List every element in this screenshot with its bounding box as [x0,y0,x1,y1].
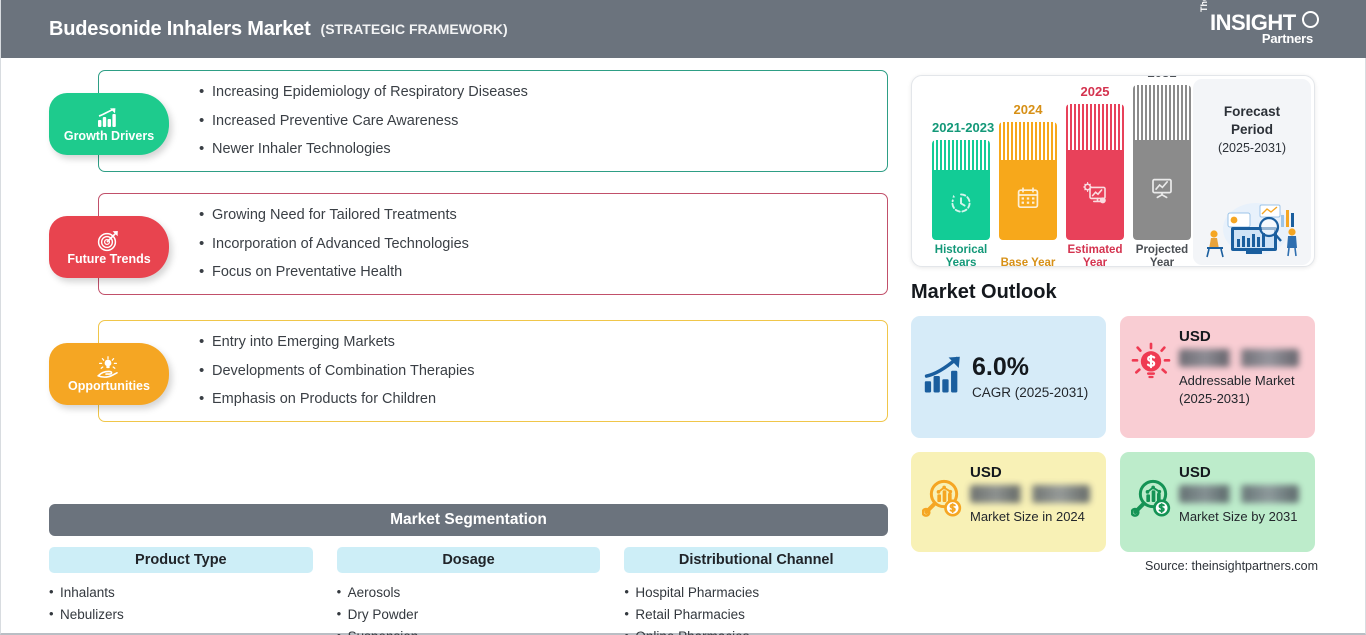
market-outlook-card[interactable]: 6.0%CAGR (2025-2031) [911,316,1106,438]
forecast-bar-solid [932,170,990,240]
segmentation-item: Aerosols [337,586,601,601]
factor-badge-label: Growth Drivers [64,129,154,143]
lightbulb-dollar-icon [1131,342,1171,387]
forecast-bar-caption: Base Year [999,257,1057,267]
page-header: Budesonide Inhalers Market (STRATEGIC FR… [1,0,1366,58]
card-body: USDAddressable Market (2025-2031) [1179,328,1304,408]
forecast-bar-group: 2024Base Year [999,122,1057,240]
forecast-bars: 2021-2023Historical Years2024Base Year20… [924,76,1188,267]
redacted-value [970,485,1090,503]
factor-panel: Increasing Epidemiology of Respiratory D… [98,70,888,172]
segmentation-column: Distributional ChannelHospital Pharmacie… [624,547,888,635]
logo-ring-icon [1302,11,1319,28]
forecast-bar-group: 2021-2023Historical Years [932,140,990,240]
card-body: USDMarket Size by 2031 [1179,464,1304,526]
segmentation-item: Online Pharmacies [624,630,888,635]
factor-badge-opportunities[interactable]: Opportunities [49,343,169,405]
forecast-bar-caption: Estimated Year [1066,244,1124,267]
card-currency: USD [970,464,1095,481]
forecast-period-panel: Forecast Period (2025-2031) [1193,79,1311,265]
calendar-icon [1016,186,1040,210]
factor-bullet-list: Entry into Emerging MarketsDevelopments … [99,321,887,421]
market-outlook-card[interactable]: USDMarket Size in 2024 [911,452,1106,552]
clock-history-icon [949,191,973,220]
factor-badge-label: Opportunities [68,379,150,393]
segmentation-column-title: Product Type [135,552,227,568]
forecast-bar-body [1133,85,1191,240]
forecast-bar-year: 2021-2023 [932,120,990,135]
factor-panel: Growing Need for Tailored TreatmentsInco… [98,193,888,295]
forecast-bar-year: 2025 [1066,84,1124,99]
growth-bar-chart-icon [922,354,964,396]
calendar-icon [1016,186,1040,215]
forecast-bar-solid [1133,140,1191,240]
lightbulb-hand-icon [96,356,122,378]
cagr-label: CAGR (2025-2031) [972,385,1095,400]
outlook-column: 2021-2023Historical Years2024Base Year20… [911,75,1321,573]
lightbulb-dollar-icon [1131,342,1171,382]
factor-bullet-item: Focus on Preventative Health [199,265,887,280]
card-label: Addressable Market (2025-2031) [1179,372,1304,408]
segmentation-column-header: Dosage [337,547,601,573]
forecast-bar-stripe [932,140,990,170]
presentation-chart-icon [1150,176,1174,205]
card-label: Market Size by 2031 [1179,508,1304,526]
magnifier-chart-dollar-icon [922,478,962,518]
segmentation-item-list: Hospital PharmaciesRetail PharmaciesOnli… [624,586,888,635]
forecast-bar-stripe [999,122,1057,160]
page-subtitle: (STRATEGIC FRAMEWORK) [321,21,508,37]
segmentation-column-header: Distributional Channel [624,547,888,573]
segmentation-columns: Product TypeInhalantsNebulizersDosageAer… [49,547,888,635]
infographic-page: Budesonide Inhalers Market (STRATEGIC FR… [0,0,1366,635]
factor-bullet-item: Newer Inhaler Technologies [199,142,887,157]
forecast-bar-year: 2024 [999,102,1057,117]
forecast-period-range: (2025-2031) [1193,141,1311,155]
forecast-period-line2: Period [1231,122,1273,137]
cagr-value: 6.0% [972,355,1095,380]
forecast-bar-group: 2025Estimated Year [1066,104,1124,240]
segmentation-column: Product TypeInhalantsNebulizers [49,547,313,635]
magnifier-chart-dollar-icon [922,478,962,523]
bar-chart-arrow-icon [96,106,120,130]
redacted-value [1179,349,1299,367]
segmentation-item: Suspension [337,630,601,635]
segmentation-item-list: InhalantsNebulizers [49,586,313,623]
factor-bullet-item: Increased Preventive Care Awareness [199,114,887,129]
forecast-bar-body [1066,104,1124,240]
analytics-gear-icon [1083,181,1107,210]
market-segmentation-header: Market Segmentation [49,504,888,536]
analytics-gear-icon [1083,181,1107,205]
segmentation-column-header: Product Type [49,547,313,573]
forecast-bar-group: 2031Projected Year [1133,85,1191,240]
forecast-bar-stripe [1066,104,1124,150]
page-title: Budesonide Inhalers Market [49,18,311,41]
segmentation-item: Hospital Pharmacies [624,586,888,601]
forecast-bar-year: 2031 [1133,75,1191,80]
factor-bullet-item: Incorporation of Advanced Technologies [199,237,887,252]
target-dart-icon [96,229,120,253]
forecast-bar-caption: Historical Years [932,244,990,267]
bar-chart-arrow-icon [96,106,122,128]
factor-bullet-item: Increasing Epidemiology of Respiratory D… [199,85,887,100]
factor-panel: Entry into Emerging MarketsDevelopments … [98,320,888,422]
segmentation-column-title: Distributional Channel [679,552,834,568]
factor-bullet-item: Growing Need for Tailored Treatments [199,208,887,223]
market-outlook-cards: 6.0%CAGR (2025-2031)USDAddressable Marke… [911,316,1321,552]
market-outlook-card[interactable]: USDAddressable Market (2025-2031) [1120,316,1315,438]
data-analysis-illustration [1198,189,1306,259]
logo-the-text: The [1199,0,1209,12]
segmentation-item: Dry Powder [337,608,601,623]
clock-history-icon [949,191,973,215]
segmentation-item-list: AerosolsDry PowderSuspension [337,586,601,635]
market-outlook-card[interactable]: USDMarket Size by 2031 [1120,452,1315,552]
forecast-bar-body [999,122,1057,240]
market-outlook-title: Market Outlook [911,281,1321,304]
logo-partners-text: Partners [1262,31,1313,46]
card-label: Market Size in 2024 [970,508,1095,526]
target-dart-icon [96,229,122,251]
forecast-bar-body [932,140,990,240]
factor-badge-growth-drivers[interactable]: Growth Drivers [49,93,169,155]
source-attribution: Source: theinsightpartners.com [911,559,1321,573]
factor-bullet-item: Entry into Emerging Markets [199,335,887,350]
forecast-bar-stripe [1133,85,1191,140]
segmentation-item: Nebulizers [49,608,313,623]
factor-badge-label: Future Trends [67,252,150,266]
factor-bullet-item: Emphasis on Products for Children [199,392,887,407]
segmentation-item: Inhalants [49,586,313,601]
forecast-timeline-card: 2021-2023Historical Years2024Base Year20… [911,75,1315,267]
factor-bullet-list: Growing Need for Tailored TreatmentsInco… [99,194,887,294]
market-segmentation-title: Market Segmentation [390,511,547,529]
presentation-chart-icon [1150,176,1174,200]
redacted-value [1179,485,1299,503]
factor-bullet-list: Increasing Epidemiology of Respiratory D… [99,71,887,171]
magnifier-chart-dollar-icon [1131,478,1171,518]
forecast-bar-solid [999,160,1057,240]
factor-bullet-item: Developments of Combination Therapies [199,364,887,379]
segmentation-item: Retail Pharmacies [624,608,888,623]
lightbulb-hand-icon [96,356,120,380]
card-currency: USD [1179,328,1304,345]
forecast-period-title: Forecast Period [1193,103,1311,139]
card-body: USDMarket Size in 2024 [970,464,1095,526]
forecast-period-line1: Forecast [1224,104,1280,119]
cagr-body: 6.0%CAGR (2025-2031) [972,355,1095,400]
forecast-bar-solid [1066,150,1124,240]
segmentation-column-title: Dosage [442,552,494,568]
magnifier-chart-dollar-icon [1131,478,1171,523]
card-currency: USD [1179,464,1304,481]
insight-partners-logo: The INSIGHT Partners [1199,11,1319,51]
segmentation-column: DosageAerosolsDry PowderSuspension [337,547,601,635]
growth-bar-chart-icon [922,354,964,401]
forecast-bar-caption: Projected Year [1133,244,1191,267]
factor-badge-future-trends[interactable]: Future Trends [49,216,169,278]
